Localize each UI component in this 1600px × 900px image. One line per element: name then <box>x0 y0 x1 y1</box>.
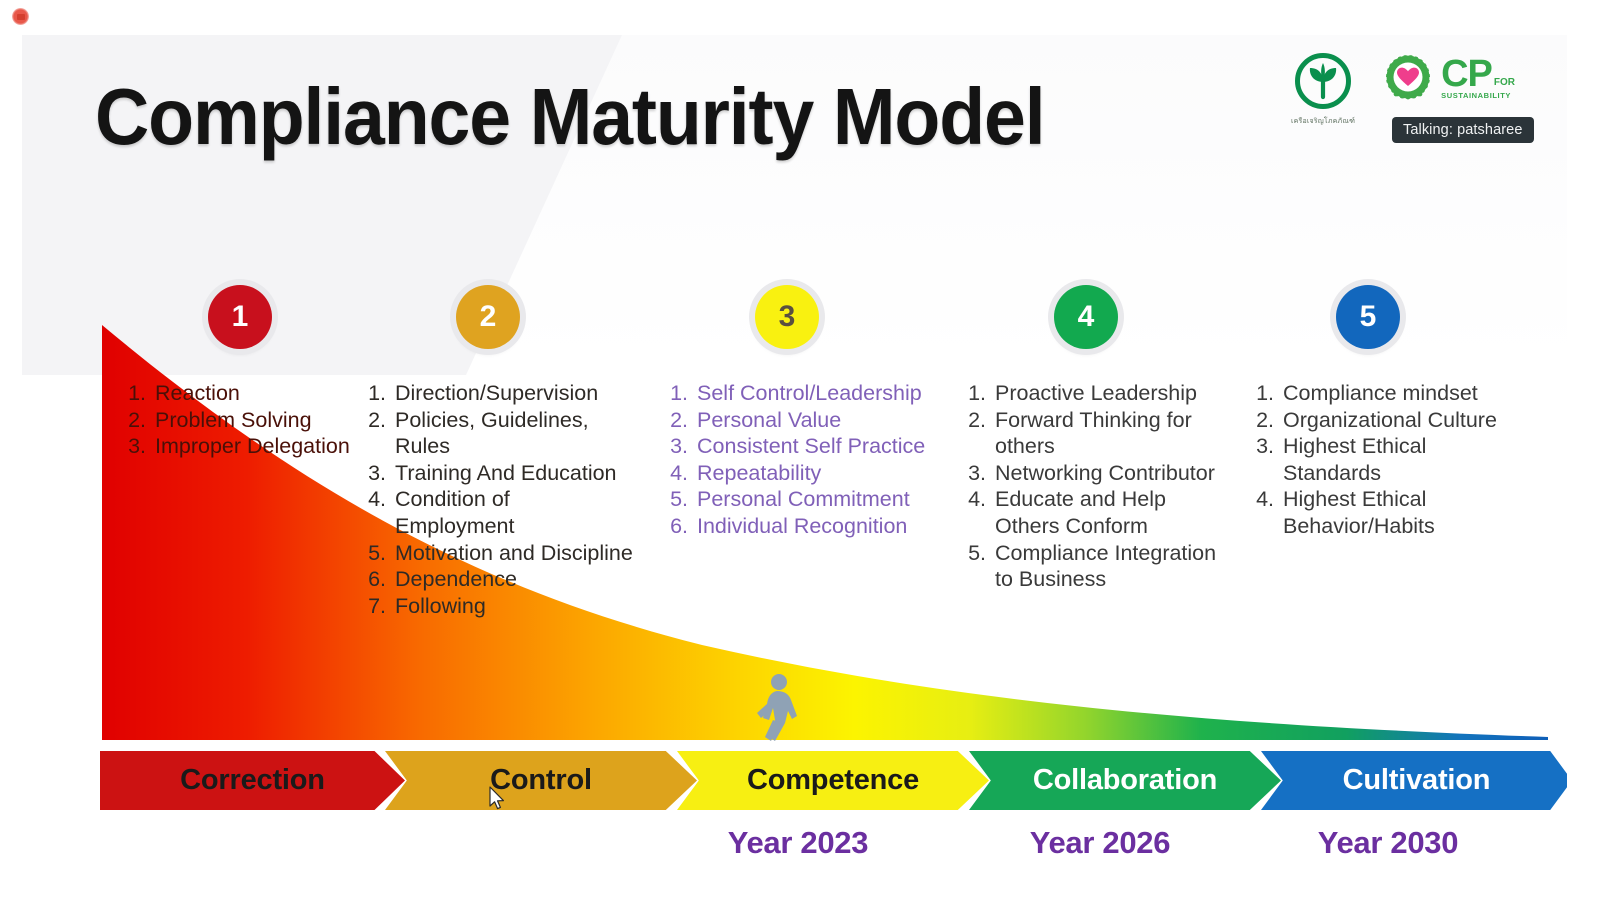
stage-badge-2[interactable]: 2 <box>456 285 520 349</box>
stage-chevron-band: Correction Control Competence Collaborat… <box>100 751 1567 810</box>
stage-item: Proactive Leadership <box>992 380 1228 407</box>
chevron-label: Collaboration <box>1033 764 1217 797</box>
seedling-circle-icon <box>1294 52 1352 110</box>
cp-sustainability-logo: CP FOR SUSTAINABILITY <box>1381 52 1515 106</box>
stage-item: Personal Commitment <box>694 486 936 513</box>
stage-item: Compliance mindset <box>1280 380 1506 407</box>
timeline-years: Year 2023 Year 2026 Year 2030 <box>78 825 1548 858</box>
stage-item: Dependence <box>392 566 634 593</box>
badge-number: 5 <box>1360 300 1377 334</box>
stage-item-list: Direction/SupervisionPolicies, Guideline… <box>366 380 634 619</box>
stage-column-correction: ReactionProblem SolvingImproper Delegati… <box>126 380 376 460</box>
stage-badge-5[interactable]: 5 <box>1336 285 1400 349</box>
stage-item: Highest Ethical Behavior/Habits <box>1280 486 1506 539</box>
chevron-cultivation[interactable]: Cultivation <box>1261 751 1567 810</box>
stage-item: Highest Ethical Standards <box>1280 433 1506 486</box>
recording-stop-icon[interactable] <box>12 8 29 25</box>
year-label-2023: Year 2023 <box>678 825 918 858</box>
stage-item: Direction/Supervision <box>392 380 634 407</box>
stage-column-cultivation: Compliance mindsetOrganizational Culture… <box>1254 380 1506 540</box>
stage-item: Compliance Integration to Business <box>992 540 1228 593</box>
stage-badge-4[interactable]: 4 <box>1054 285 1118 349</box>
presentation-slide: Compliance Maturity Model เครือเจริญโภคภ… <box>22 35 1567 858</box>
logo-group: เครือเจริญโภคภัณฑ์ CP <box>1291 52 1515 127</box>
mouse-cursor <box>489 786 507 812</box>
walking-person-svg <box>747 673 807 748</box>
stage-column-collaboration: Proactive LeadershipForward Thinking for… <box>966 380 1228 593</box>
screen: Compliance Maturity Model เครือเจริญโภคภ… <box>0 0 1600 900</box>
stage-item: Reaction <box>152 380 376 407</box>
stage-item-list: Self Control/LeadershipPersonal ValueCon… <box>668 380 936 540</box>
stage-item: Organizational Culture <box>1280 407 1506 434</box>
stage-item: Condition of Employment <box>392 486 634 539</box>
stage-item: Consistent Self Practice <box>694 433 936 460</box>
heart-globe-icon <box>1381 52 1435 106</box>
stage-badge-3[interactable]: 3 <box>755 285 819 349</box>
stage-item: Individual Recognition <box>694 513 936 540</box>
stage-item: Policies, Guidelines, Rules <box>392 407 634 460</box>
stage-badge-row: 1 2 3 4 5 <box>78 285 1548 361</box>
stage-item: Improper Delegation <box>152 433 376 460</box>
stage-badge-1[interactable]: 1 <box>208 285 272 349</box>
chevron-correction[interactable]: Correction <box>100 751 405 810</box>
stage-item: Problem Solving <box>152 407 376 434</box>
badge-number: 2 <box>480 300 497 334</box>
stage-item: Educate and Help Others Conform <box>992 486 1228 539</box>
stage-item: Following <box>392 593 634 620</box>
chevron-label: Cultivation <box>1343 764 1491 797</box>
chevron-label: Competence <box>747 764 919 797</box>
chevron-control[interactable]: Control <box>385 751 697 810</box>
stage-item-list: Proactive LeadershipForward Thinking for… <box>966 380 1228 593</box>
page-title: Compliance Maturity Model <box>95 71 1045 163</box>
stage-item-list: ReactionProblem SolvingImproper Delegati… <box>126 380 376 460</box>
chevron-label: Correction <box>180 764 325 797</box>
stage-item: Forward Thinking for others <box>992 407 1228 460</box>
year-label-2026: Year 2026 <box>980 825 1220 858</box>
chevron-competence[interactable]: Competence <box>677 751 989 810</box>
badge-number: 1 <box>232 300 249 334</box>
talking-indicator-badge: Talking: patsharee <box>1392 117 1534 143</box>
badge-number: 4 <box>1078 300 1095 334</box>
stage-column-control: Direction/SupervisionPolicies, Guideline… <box>366 380 634 619</box>
walking-person-icon <box>747 673 807 748</box>
logo-caption: เครือเจริญโภคภัณฑ์ <box>1291 116 1355 127</box>
stage-item: Personal Value <box>694 407 936 434</box>
stage-item: Motivation and Discipline <box>392 540 634 567</box>
cp-logo-text: CP <box>1441 58 1492 90</box>
stage-column-competence: Self Control/LeadershipPersonal ValueCon… <box>668 380 936 540</box>
stage-detail-columns: ReactionProblem SolvingImproper Delegati… <box>78 380 1548 710</box>
chevron-collaboration[interactable]: Collaboration <box>969 751 1281 810</box>
stage-item: Self Control/Leadership <box>694 380 936 407</box>
stage-item-list: Compliance mindsetOrganizational Culture… <box>1254 380 1506 540</box>
cp-logo-caption: SUSTAINABILITY <box>1441 91 1515 100</box>
year-label-2030: Year 2030 <box>1268 825 1508 858</box>
cp-logo-sub: FOR <box>1494 77 1515 88</box>
cp-seedling-logo: เครือเจริญโภคภัณฑ์ <box>1291 52 1355 127</box>
stage-item: Training And Education <box>392 460 634 487</box>
stage-item: Repeatability <box>694 460 936 487</box>
badge-number: 3 <box>779 300 796 334</box>
stage-item: Networking Contributor <box>992 460 1228 487</box>
